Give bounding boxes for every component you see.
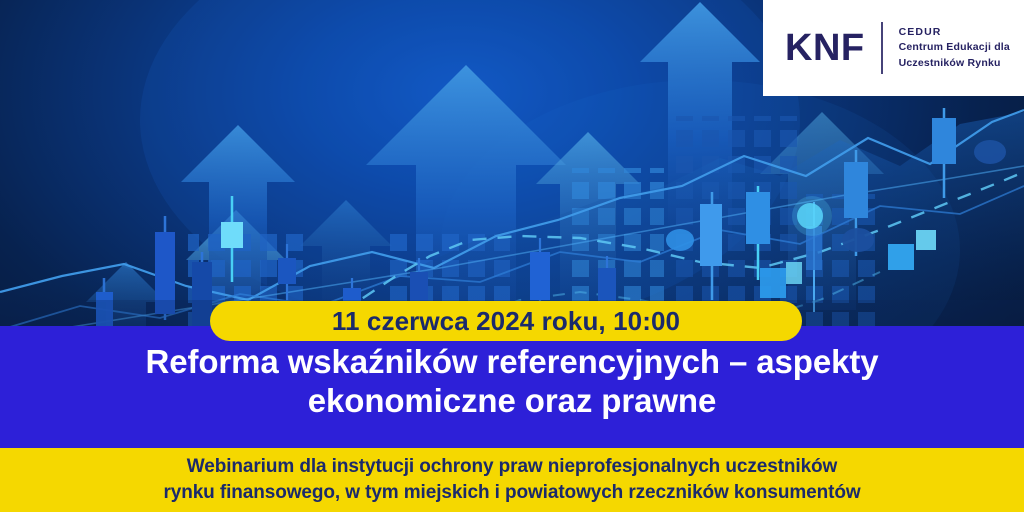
data-point-glow [792,196,832,236]
event-date-text: 11 czerwca 2024 roku, 10:00 [332,308,680,334]
knf-cedur-logo: KNF CEDUR Centrum Edukacji dla Uczestnik… [763,0,1024,96]
cedur-acronym: CEDUR [899,25,1010,40]
event-date-badge: 11 czerwca 2024 roku, 10:00 [210,301,802,341]
knf-wordmark: KNF [785,29,865,67]
cedur-lockup: CEDUR Centrum Edukacji dla Uczestników R… [899,25,1010,71]
footer-line-2: rynku finansowego, w tym miejskich i pow… [37,480,987,506]
footer-line-1: Webinarium dla instytucji ochrony praw n… [187,456,837,477]
logo-divider [881,22,883,74]
data-point [842,228,874,252]
footer-subtitle: Webinarium dla instytucji ochrony praw n… [37,454,987,505]
cedur-fullname-line2: Uczestników Rynku [899,56,1010,71]
data-point [974,140,1006,164]
page-title: Reforma wskaźników referencyjnych – aspe… [32,343,992,420]
cedur-fullname-line1: Centrum Edukacji dla [899,40,1010,55]
webinar-banner: KNF CEDUR Centrum Edukacji dla Uczestnik… [0,0,1024,512]
title-band: Reforma wskaźników referencyjnych – aspe… [0,326,1024,448]
title-line-2: ekonomiczne oraz prawne [32,382,992,420]
data-point [666,229,694,251]
title-line-1: Reforma wskaźników referencyjnych – aspe… [145,343,878,380]
footer-band: Webinarium dla instytucji ochrony praw n… [0,448,1024,512]
